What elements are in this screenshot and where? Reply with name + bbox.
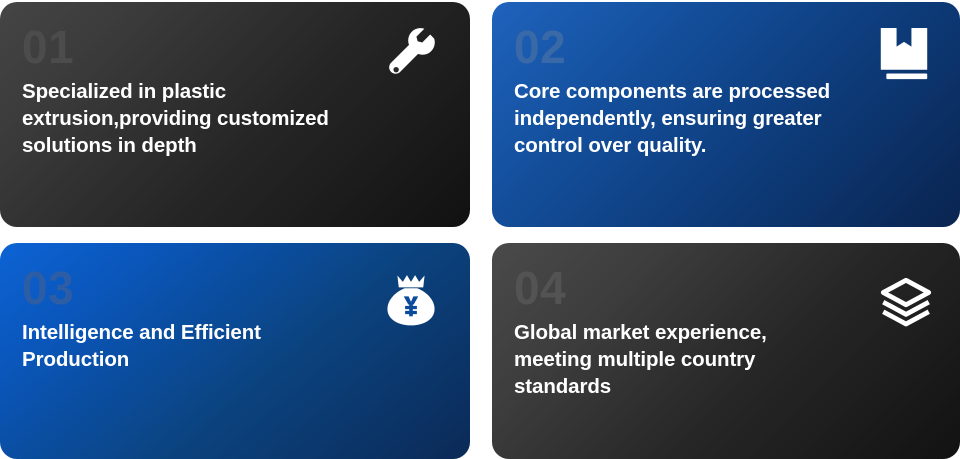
card-description: Specialized in plastic extrusion,providi… [22,78,444,159]
card-content: 04 Global market experience, meeting mul… [492,243,960,459]
feature-card-01[interactable]: 01 Specialized in plastic extrusion,prov… [0,2,470,227]
card-description: Intelligence and Efficient Production [22,319,394,373]
card-number: 03 [22,265,444,311]
layers-stack-icon [878,275,934,331]
card-description: Core components are processed independen… [514,78,934,159]
feature-card-grid: 01 Specialized in plastic extrusion,prov… [0,0,960,459]
card-number: 04 [514,265,934,311]
card-content: 03 Intelligence and Efficient Production [0,243,470,459]
feature-card-02[interactable]: 02 Core components are processed indepen… [492,2,960,227]
feature-card-03[interactable]: 03 Intelligence and Efficient Production [0,243,470,459]
book-bookmark-icon [878,26,930,82]
money-bag-yen-icon [382,271,440,329]
wrench-icon [382,24,440,82]
card-content: 01 Specialized in plastic extrusion,prov… [0,2,470,227]
card-content: 02 Core components are processed indepen… [492,2,960,227]
card-number: 01 [22,24,444,70]
card-description: Global market experience, meeting multip… [514,319,934,400]
card-number: 02 [514,24,934,70]
feature-card-04[interactable]: 04 Global market experience, meeting mul… [492,243,960,459]
